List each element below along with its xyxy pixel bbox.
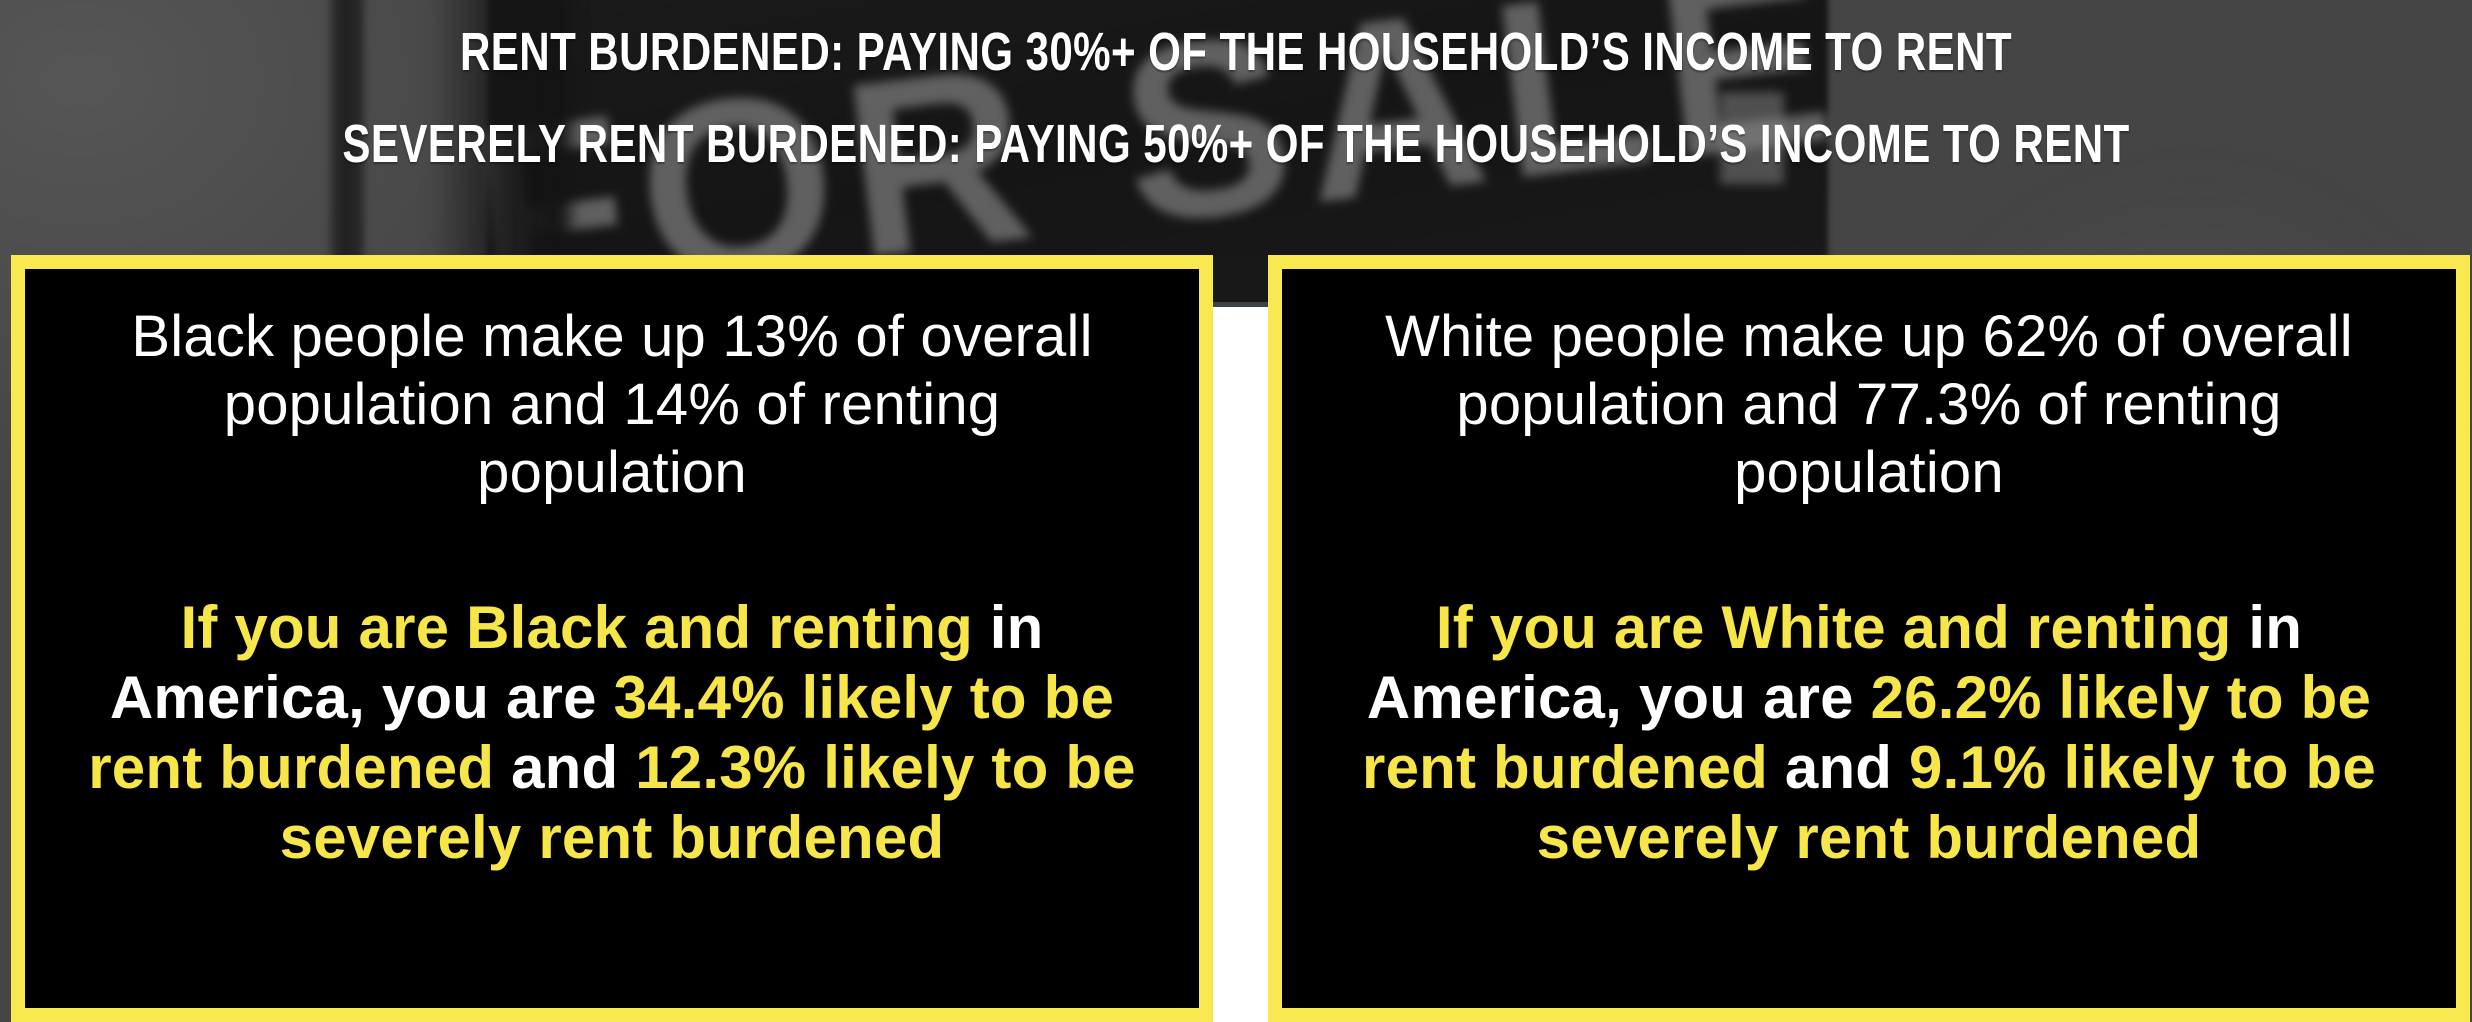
card-white-renters-inner: White people make up 62% of overall popu… — [1282, 269, 2456, 1008]
card-black-renters: Black people make up 13% of overall popu… — [11, 255, 1213, 1022]
claim-segment-hl-1: If you are White and renting — [1436, 594, 2232, 661]
claim-text-white: If you are White and renting in America,… — [1339, 593, 2399, 873]
card-black-renters-inner: Black people make up 13% of overall popu… — [25, 269, 1199, 1008]
card-row: Black people make up 13% of overall popu… — [0, 255, 2472, 1022]
claim-segment-4: and — [1768, 734, 1909, 801]
claim-text-black: If you are Black and renting in America,… — [82, 593, 1142, 873]
sign-detail-chip — [1720, 92, 1784, 184]
stat-text-black: Black people make up 13% of overall popu… — [112, 303, 1112, 507]
card-white-renters: White people make up 62% of overall popu… — [1268, 255, 2470, 1022]
claim-segment-4: and — [494, 734, 635, 801]
infographic-stage: FOR SALE RENT BURDENED: PAYING 30%+ OF T… — [0, 0, 2472, 1022]
stat-text-white: White people make up 62% of overall popu… — [1369, 303, 2369, 507]
claim-segment-hl-1: If you are Black and renting — [180, 594, 972, 661]
